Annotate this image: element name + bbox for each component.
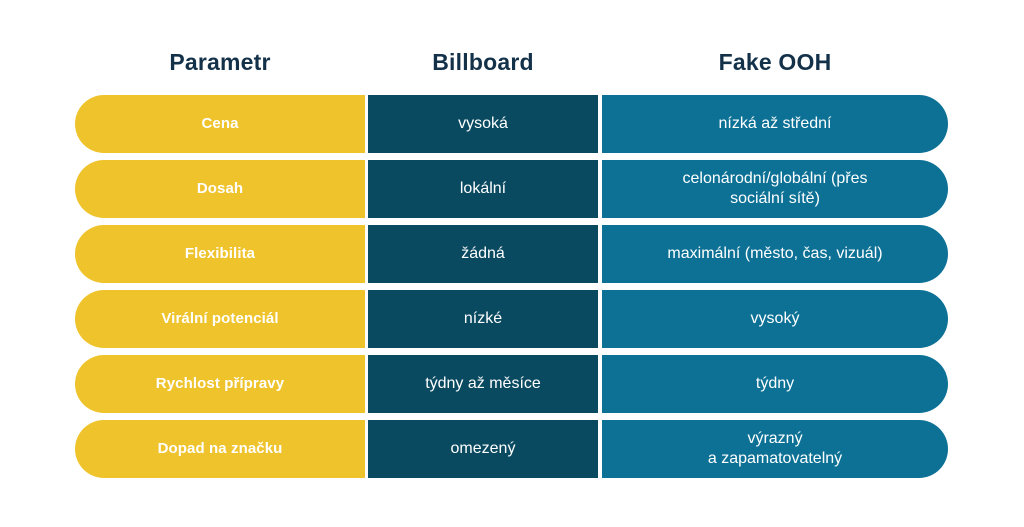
cell-billboard: omezený <box>368 420 598 478</box>
cell-billboard: vysoká <box>368 95 598 153</box>
cell-parametr-text: Rychlost přípravy <box>156 375 284 393</box>
table-body: Cena vysoká nízká až střední Dosah lokál… <box>75 95 948 485</box>
table-row: Dopad na značku omezený výrazný a zapama… <box>75 420 948 478</box>
cell-fake-ooh: týdny <box>602 355 948 413</box>
cell-parametr: Flexibilita <box>75 225 365 283</box>
table-header-row: Parametr Billboard Fake OOH <box>75 44 948 80</box>
cell-billboard-text: týdny až měsíce <box>425 374 541 394</box>
cell-fake-ooh-text: vysoký <box>751 309 800 329</box>
table-row: Dosah lokální celonárodní/globální (přes… <box>75 160 948 218</box>
table-row: Rychlost přípravy týdny až měsíce týdny <box>75 355 948 413</box>
cell-billboard-text: žádná <box>461 244 505 264</box>
cell-parametr: Cena <box>75 95 365 153</box>
cell-billboard-text: lokální <box>460 179 506 199</box>
cell-parametr: Dosah <box>75 160 365 218</box>
table-row: Cena vysoká nízká až střední <box>75 95 948 153</box>
cell-billboard: nízké <box>368 290 598 348</box>
column-header-billboard: Billboard <box>368 49 598 76</box>
cell-billboard: žádná <box>368 225 598 283</box>
cell-parametr: Rychlost přípravy <box>75 355 365 413</box>
cell-billboard-text: omezený <box>451 439 516 459</box>
cell-fake-ooh: celonárodní/globální (přes sociální sítě… <box>602 160 948 218</box>
table-row: Flexibilita žádná maximální (město, čas,… <box>75 225 948 283</box>
comparison-table-page: { "colors": { "background": "#ffffff", "… <box>0 0 1024 527</box>
cell-fake-ooh-text: nízká až střední <box>719 114 832 134</box>
column-header-fake-ooh: Fake OOH <box>602 49 948 76</box>
column-header-parametr: Parametr <box>75 49 365 76</box>
cell-parametr-text: Flexibilita <box>185 245 255 263</box>
cell-parametr: Dopad na značku <box>75 420 365 478</box>
cell-fake-ooh-text: týdny <box>756 374 794 394</box>
cell-billboard-text: nízké <box>464 309 502 329</box>
cell-fake-ooh-text: celonárodní/globální (přes sociální sítě… <box>682 169 867 208</box>
cell-parametr: Virální potenciál <box>75 290 365 348</box>
cell-parametr-text: Virální potenciál <box>161 310 278 328</box>
cell-fake-ooh: maximální (město, čas, vizuál) <box>602 225 948 283</box>
cell-fake-ooh-text: výrazný a zapamatovatelný <box>708 429 842 468</box>
cell-fake-ooh: výrazný a zapamatovatelný <box>602 420 948 478</box>
cell-fake-ooh-text: maximální (město, čas, vizuál) <box>667 244 882 264</box>
cell-parametr-text: Dopad na značku <box>158 440 283 458</box>
cell-parametr-text: Cena <box>201 115 238 133</box>
comparison-table: Parametr Billboard Fake OOH Cena vysoká … <box>75 0 948 527</box>
cell-billboard: lokální <box>368 160 598 218</box>
cell-fake-ooh: nízká až střední <box>602 95 948 153</box>
cell-billboard: týdny až měsíce <box>368 355 598 413</box>
cell-fake-ooh: vysoký <box>602 290 948 348</box>
cell-parametr-text: Dosah <box>197 180 243 198</box>
cell-billboard-text: vysoká <box>458 114 508 134</box>
table-row: Virální potenciál nízké vysoký <box>75 290 948 348</box>
